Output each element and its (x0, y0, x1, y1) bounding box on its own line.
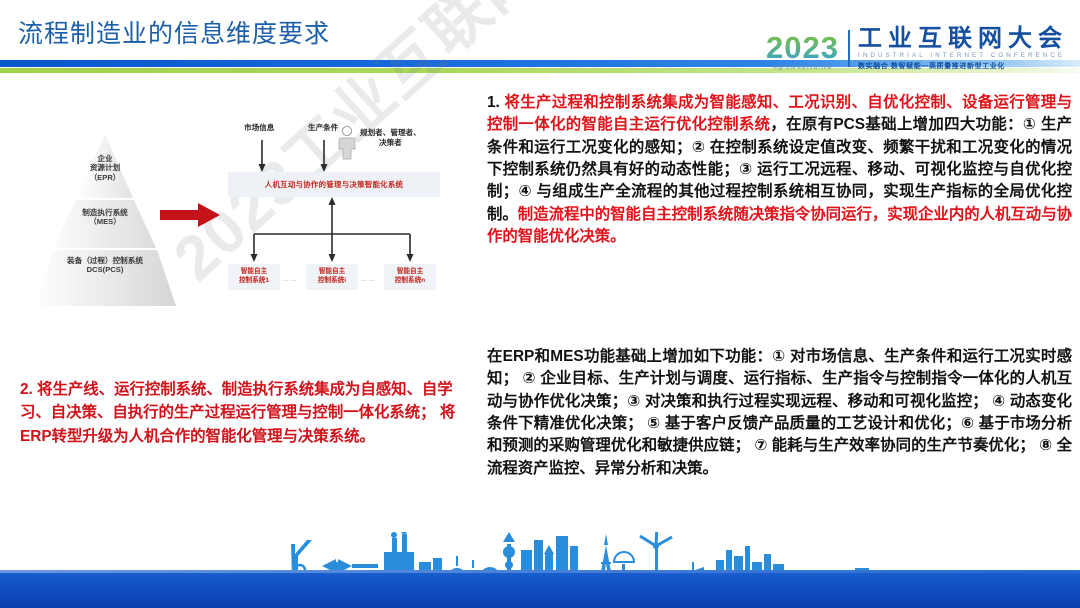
logo-name-block: 工业互联网大会 INDUSTRIAL INTERNET CONFERENCE 数… (858, 26, 1068, 71)
autonomous-control-system-i: 智能自主 控制系统i (306, 264, 358, 290)
hmi-decision-system-box: 人机互动与协作的管理与决策智能化系统 (228, 172, 440, 197)
footer-sea-band (0, 570, 1080, 608)
paragraph-1: 1. 将生产过程和控制系统集成为智能感知、工况识别、自优化控制、设备运行管理与控… (487, 92, 1072, 248)
logo-year: 2023 (766, 33, 839, 62)
ellipsis-2: …… (360, 276, 376, 283)
logo-name-cn: 工业互联网大会 (858, 26, 1068, 51)
hmi-box-label: 人机互动与协作的管理与决策智能化系统 (265, 179, 403, 190)
pyramid-dcs-line2: DCS(PCS) (32, 265, 178, 274)
ellipsis-1: …… (282, 276, 298, 283)
page-title: 流程制造业的信息维度要求 (18, 14, 330, 50)
pyramid-level-erp: 企业 资源计划 （EPR） (32, 154, 178, 182)
logo-tagline: 数实融合 数智赋能—高质量推进新型工业化 (858, 61, 1068, 71)
pyramid-erp-line2: 资源计划 (32, 163, 178, 172)
ctrl2-line1: 智能自主 (319, 268, 345, 277)
architecture-pyramid: 企业 资源计划 （EPR） 制造执行系统 （MES） 装备（过程）控制系统 DC… (32, 132, 178, 308)
paragraph-1-red-b: 制造流程中的智能自主控制系统随决策指令协同运行，实现企业内的人机互动与协作的智能… (487, 206, 1072, 245)
slide-canvas: 流程制造业的信息维度要求 2023 中国·苏州 8月14日-16日 工业互联网大… (0, 0, 1080, 608)
logo-year-block: 2023 中国·苏州 8月14日-16日 (766, 33, 848, 71)
ctrl1-line1: 智能自主 (241, 268, 267, 277)
paragraph-3: 在ERP和MES功能基础上增加如下功能：① 对市场信息、生产条件和运行工况实时感… (487, 346, 1072, 480)
red-arrow-icon (160, 200, 222, 230)
pyramid-level-mes: 制造执行系统 （MES） (32, 208, 178, 227)
logo-date: 中国·苏州 8月14日-16日 (766, 65, 839, 71)
autonomous-control-system-n: 智能自主 控制系统n (384, 264, 436, 290)
conference-logo: 2023 中国·苏州 8月14日-16日 工业互联网大会 INDUSTRIAL … (766, 26, 1068, 71)
footer-decoration (0, 538, 1080, 608)
paragraph-2: 2. 将生产线、运行控制系统、制造执行系统集成为自感知、自学习、自决策、自执行的… (20, 378, 475, 448)
intelligent-system-flow-diagram: 市场信息 生产条件 规划者、管理者、 决策者 (228, 122, 478, 312)
pyramid-level-dcs: 装备（过程）控制系统 DCS(PCS) (32, 256, 178, 275)
ctrl3-line1: 智能自主 (397, 268, 423, 277)
ctrl3-line2: 控制系统n (395, 277, 425, 286)
pyramid-dcs-line1: 装备（过程）控制系统 (32, 256, 178, 265)
logo-name-en: INDUSTRIAL INTERNET CONFERENCE (858, 52, 1068, 59)
autonomous-control-system-1: 智能自主 控制系统1 (228, 264, 280, 290)
pyramid-erp-line3: （EPR） (32, 173, 178, 182)
pyramid-mes-line2: （MES） (32, 217, 178, 226)
ctrl2-line2: 控制系统i (318, 277, 346, 286)
ctrl1-line2: 控制系统1 (239, 277, 269, 286)
paragraph-1-number: 1. (487, 94, 505, 111)
logo-separator (848, 30, 850, 67)
